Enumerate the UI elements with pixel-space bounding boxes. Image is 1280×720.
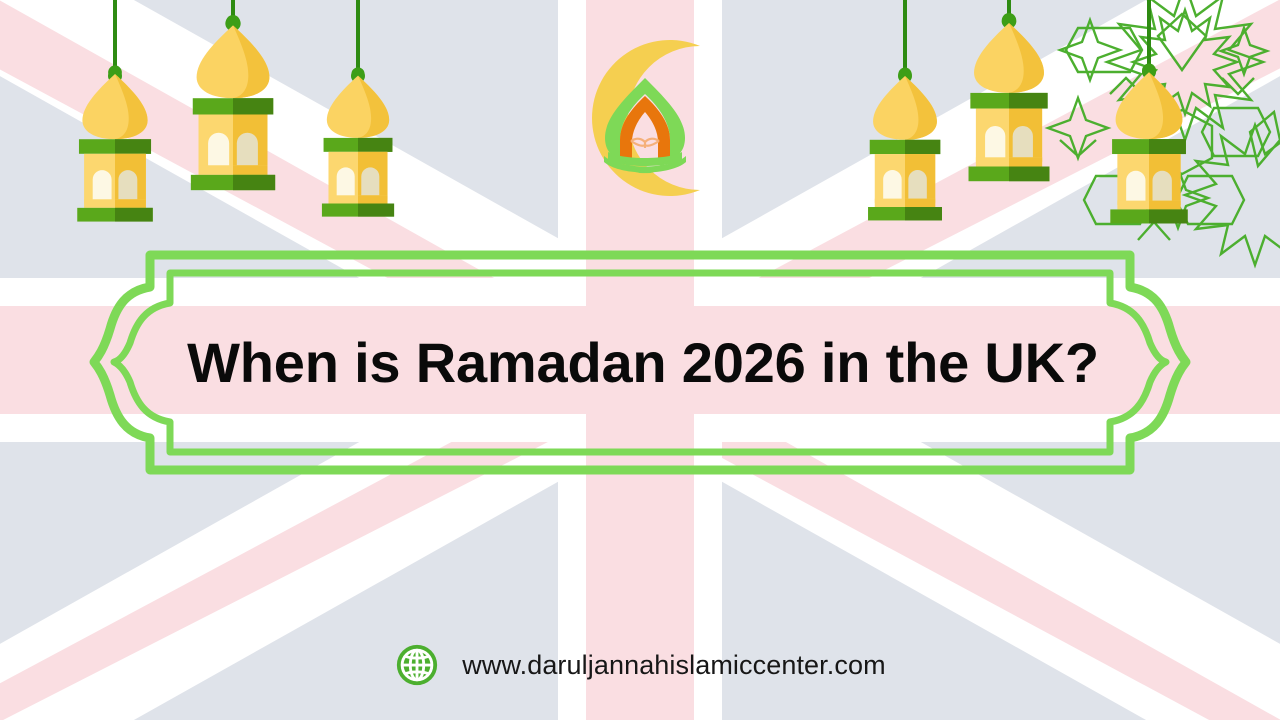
title-banner: When is Ramadan 2026 in the UK? <box>88 245 1192 480</box>
footer: www.daruljannahislamiccenter.com <box>0 642 1280 688</box>
lantern-group-right <box>868 0 1188 223</box>
poster-canvas: When is Ramadan 2026 in the UK? www.daru… <box>0 0 1280 720</box>
lantern-5 <box>969 0 1050 181</box>
lantern-2 <box>191 0 275 190</box>
lantern-6 <box>1110 0 1187 223</box>
open-book-icon <box>631 139 659 148</box>
globe-icon <box>394 642 440 688</box>
website-url: www.daruljannahislamiccenter.com <box>462 650 885 681</box>
page-title: When is Ramadan 2026 in the UK? <box>88 245 1192 480</box>
lantern-group-left <box>77 0 394 222</box>
lantern-3 <box>322 0 394 217</box>
lantern-1 <box>77 0 152 222</box>
lantern-4 <box>868 0 942 220</box>
